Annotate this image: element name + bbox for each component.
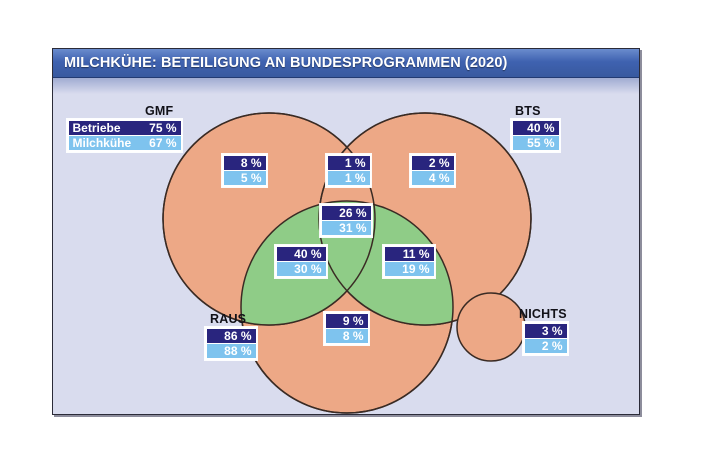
label-gmf: GMF <box>145 104 173 118</box>
screenshot-canvas: MILCHKÜHE: BETEILIGUNG AN BUNDESPROGRAMM… <box>0 0 718 474</box>
value-gmf-bts-betriebe: 1 % <box>328 156 370 170</box>
label-nichts: NICHTS <box>519 307 567 321</box>
value-bts-only-betriebe: 2 % <box>412 156 454 170</box>
value-raus-betriebe: 86 % <box>207 329 256 343</box>
value-raus-only-milchkuehe: 8 % <box>326 329 368 343</box>
legend-gmf-betriebe-row: Betriebe 75 % <box>69 121 181 135</box>
value-box-nichts: 3 % 2 % <box>523 322 568 355</box>
legend-key-betriebe: Betriebe <box>73 121 121 135</box>
value-triple-betriebe: 26 % <box>322 206 371 220</box>
value-box-gmf-bts-raus: 26 % 31 % <box>320 204 372 237</box>
value-bts-raus-milchkuehe: 19 % <box>385 262 434 276</box>
legend-value-gmf-milchkuehe: 67 % <box>149 136 176 150</box>
value-gmf-only-betriebe: 8 % <box>224 156 266 170</box>
value-box-raus-only: 9 % 8 % <box>324 312 369 345</box>
value-nichts-betriebe: 3 % <box>525 324 567 338</box>
value-raus-only-betriebe: 9 % <box>326 314 368 328</box>
value-box-gmf-only: 8 % 5 % <box>222 154 267 187</box>
value-bts-only-milchkuehe: 4 % <box>412 171 454 185</box>
circle-nichts <box>457 293 525 361</box>
legend-key-milchkuehe: Milchkühe <box>73 136 132 150</box>
value-gmf-bts-milchkuehe: 1 % <box>328 171 370 185</box>
value-box-bts-raus: 11 % 19 % <box>383 245 435 278</box>
infographic-panel: MILCHKÜHE: BETEILIGUNG AN BUNDESPROGRAMM… <box>52 48 640 415</box>
value-bts-raus-betriebe: 11 % <box>385 247 434 261</box>
value-box-bts-only: 2 % 4 % <box>410 154 455 187</box>
value-box-bts: 40 % 55 % <box>511 119 560 152</box>
value-box-raus: 86 % 88 % <box>205 327 257 360</box>
value-gmf-raus-betriebe: 40 % <box>277 247 326 261</box>
value-triple-milchkuehe: 31 % <box>322 221 371 235</box>
legend-gmf-milchkuehe-row: Milchkühe 67 % <box>69 136 181 150</box>
label-bts: BTS <box>515 104 541 118</box>
value-nichts-milchkuehe: 2 % <box>525 339 567 353</box>
value-bts-milchkuehe: 55 % <box>513 136 559 150</box>
value-gmf-only-milchkuehe: 5 % <box>224 171 266 185</box>
value-gmf-raus-milchkuehe: 30 % <box>277 262 326 276</box>
legend-value-gmf-betriebe: 75 % <box>149 121 176 135</box>
value-raus-milchkuehe: 88 % <box>207 344 256 358</box>
legend-box-gmf: Betriebe 75 % Milchkühe 67 % <box>67 119 182 152</box>
value-bts-betriebe: 40 % <box>513 121 559 135</box>
value-box-gmf-raus: 40 % 30 % <box>275 245 327 278</box>
label-raus: RAUS <box>210 312 246 326</box>
value-box-gmf-bts: 1 % 1 % <box>326 154 371 187</box>
